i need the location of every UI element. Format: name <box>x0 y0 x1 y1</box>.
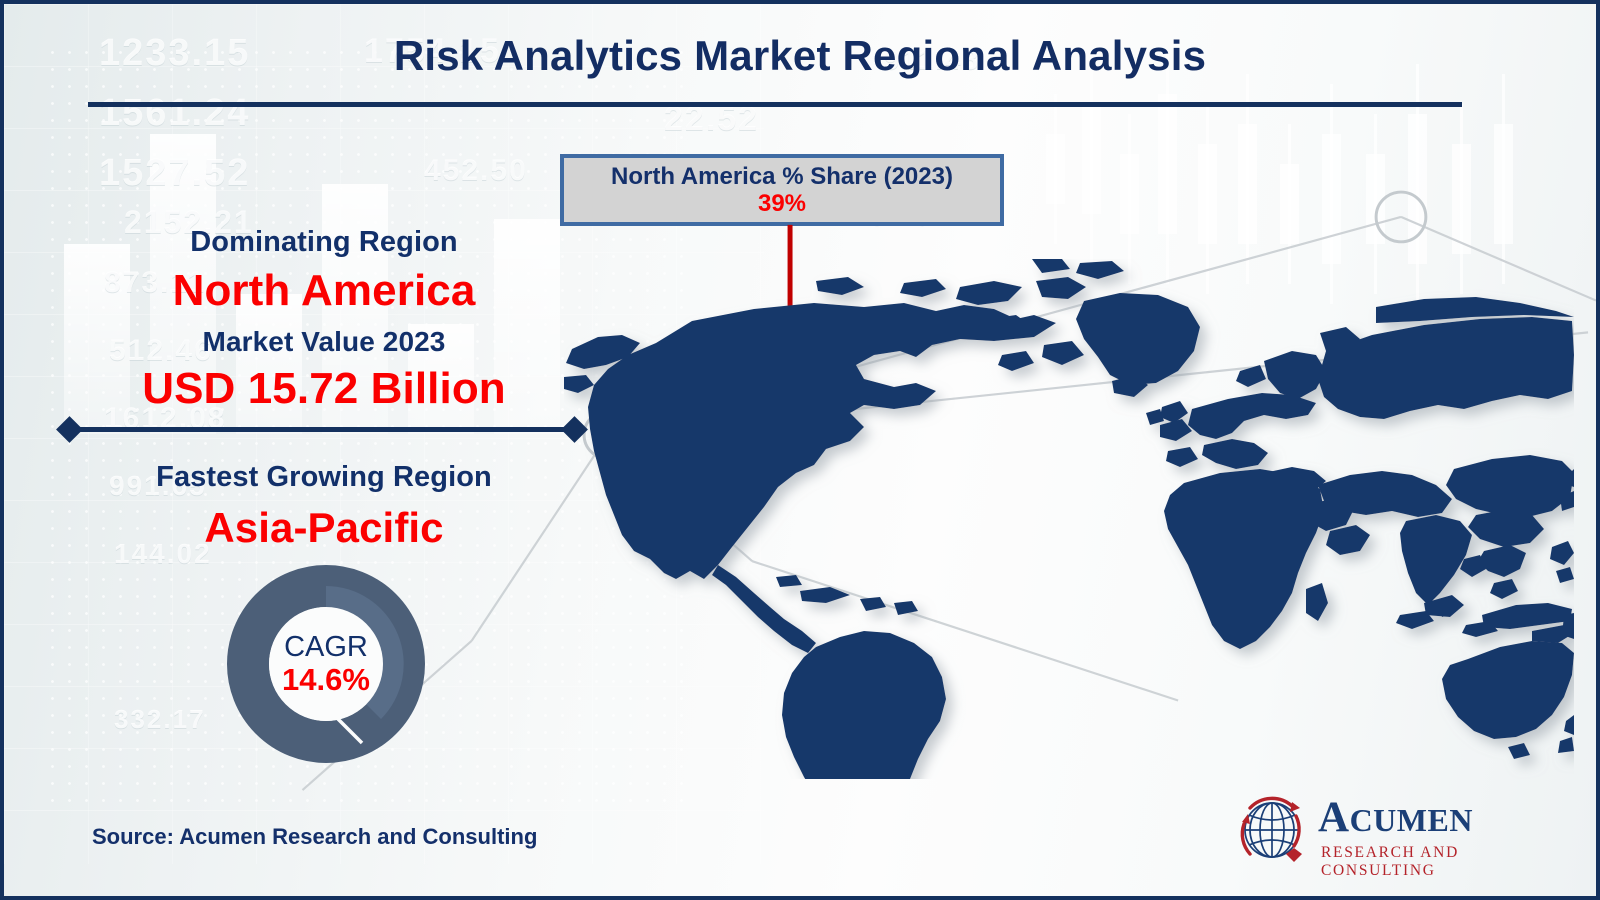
dominating-region-value: North America <box>44 266 604 316</box>
background-ghost-number: 1561.24 <box>99 92 250 135</box>
divider-diamond-left <box>56 416 83 443</box>
fastest-growing-region-value: Asia-Pacific <box>44 504 604 552</box>
callout-value: 39% <box>758 191 806 216</box>
background-ghost-number: 452.50 <box>424 154 528 188</box>
market-value-amount: USD 15.72 Billion <box>44 364 604 414</box>
section-divider <box>68 427 576 432</box>
cagr-value: 14.6% <box>282 664 370 695</box>
callout-title: North America % Share (2023) <box>611 164 953 189</box>
dominating-region-label: Dominating Region <box>44 226 604 259</box>
background-ghost-number: 332.17 <box>114 704 206 735</box>
cagr-donut-chart: CAGR 14.6% <box>226 564 426 764</box>
page-title: Risk Analytics Market Regional Analysis <box>4 32 1596 80</box>
market-value-label: Market Value 2023 <box>44 326 604 358</box>
world-map <box>564 259 1574 779</box>
cagr-label: CAGR <box>284 633 368 662</box>
north-america-share-callout: North America % Share (2023) 39% <box>560 154 1004 226</box>
logo-brand-rest: CUMEN <box>1350 802 1473 838</box>
logo-brand-text: ACUMEN <box>1318 796 1473 839</box>
background-ghost-number: 1527.52 <box>99 152 250 195</box>
title-underline <box>88 102 1462 107</box>
acumen-logo: ACUMEN RESEARCH AND CONSULTING <box>1226 790 1536 872</box>
globe-icon <box>1226 790 1318 872</box>
logo-brand-initial: A <box>1318 794 1350 841</box>
donut-center-text: CAGR 14.6% <box>226 564 426 764</box>
logo-tagline: RESEARCH AND CONSULTING <box>1321 844 1536 880</box>
fastest-growing-region-label: Fastest Growing Region <box>44 461 604 494</box>
map-landmasses <box>564 259 1574 779</box>
source-text: Source: Acumen Research and Consulting <box>92 824 537 850</box>
infographic-canvas: 1233.151561.241527.522152.21873.11512.46… <box>0 0 1600 900</box>
